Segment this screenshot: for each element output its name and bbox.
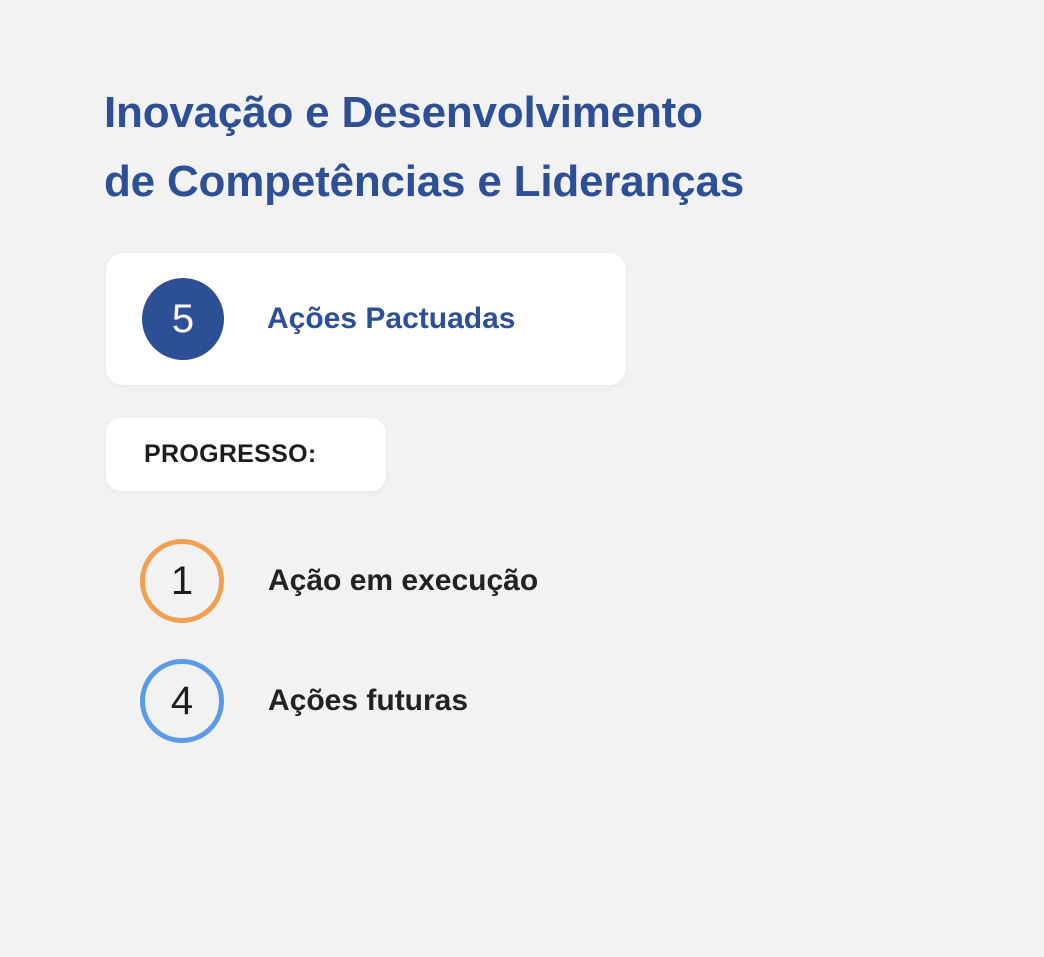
status-label-future: Ações futuras: [268, 684, 468, 718]
status-row-future: 4 Ações futuras: [140, 659, 468, 743]
status-count-ring-future: 4: [140, 659, 224, 743]
summary-card: 5 Ações Pactuadas: [106, 253, 626, 385]
status-row-in-progress: 1 Ação em execução: [140, 539, 538, 623]
page-title-line-2: de Competências e Lideranças: [104, 148, 964, 216]
summary-count-badge: 5: [142, 278, 224, 360]
status-label-in-progress: Ação em execução: [268, 564, 538, 598]
infographic-panel: Inovação e Desenvolvimento de Competênci…: [0, 0, 1044, 957]
page-title: Inovação e Desenvolvimento de Competênci…: [104, 79, 964, 215]
page-title-line-1: Inovação e Desenvolvimento: [104, 79, 964, 147]
progress-section-label: PROGRESSO:: [144, 440, 316, 469]
status-count-ring-in-progress: 1: [140, 539, 224, 623]
progress-section-card: PROGRESSO:: [106, 418, 386, 491]
summary-label: Ações Pactuadas: [267, 302, 515, 336]
